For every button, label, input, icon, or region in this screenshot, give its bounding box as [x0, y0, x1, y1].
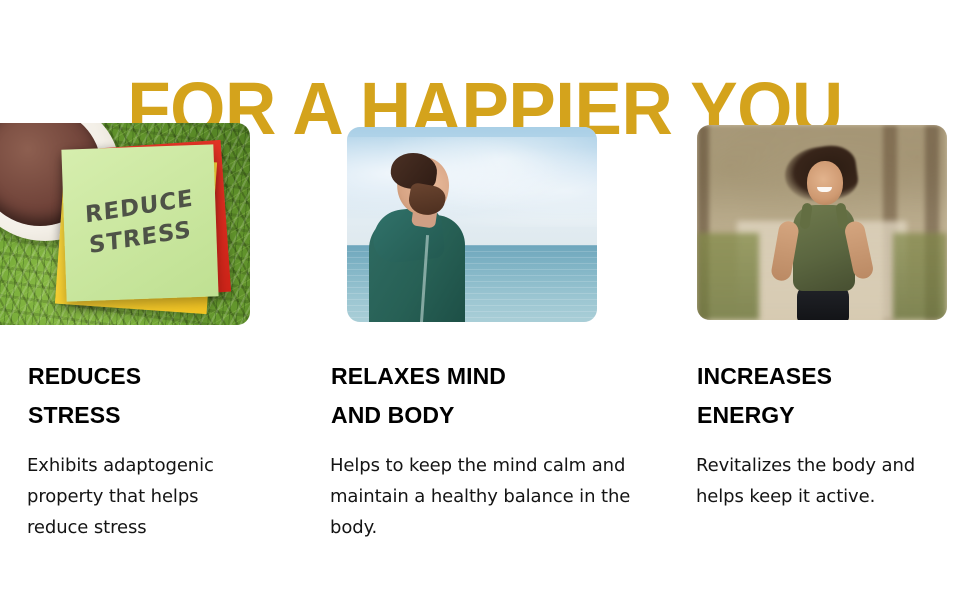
infographic-page: FOR A HAPPIER YOU REDUCE STRESS REDUCES …	[0, 0, 970, 600]
benefit-image-reduces-stress: REDUCE STRESS	[0, 123, 250, 325]
grass-left	[697, 233, 759, 320]
grass-right	[893, 233, 947, 320]
benefit-heading-relaxes-mind-and-body: RELAXES MIND AND BODY	[331, 357, 631, 435]
benefit-body-relaxes-mind-and-body: Helps to keep the mind calm and maintain…	[330, 450, 646, 543]
benefit-heading-increases-energy: INCREASES ENERGY	[697, 357, 957, 435]
benefit-image-relaxes-mind-and-body	[347, 127, 597, 322]
clouds	[347, 137, 597, 227]
benefit-image-increases-energy	[697, 125, 947, 320]
benefit-body-reduces-stress: Exhibits adaptogenic property that helps…	[27, 450, 261, 543]
benefit-heading-reduces-stress: REDUCES STRESS	[28, 357, 298, 435]
runner-head	[807, 161, 843, 205]
benefit-body-increases-energy: Revitalizes the body and helps keep it a…	[696, 450, 966, 512]
sticky-note-text: REDUCE STRESS	[61, 144, 218, 301]
